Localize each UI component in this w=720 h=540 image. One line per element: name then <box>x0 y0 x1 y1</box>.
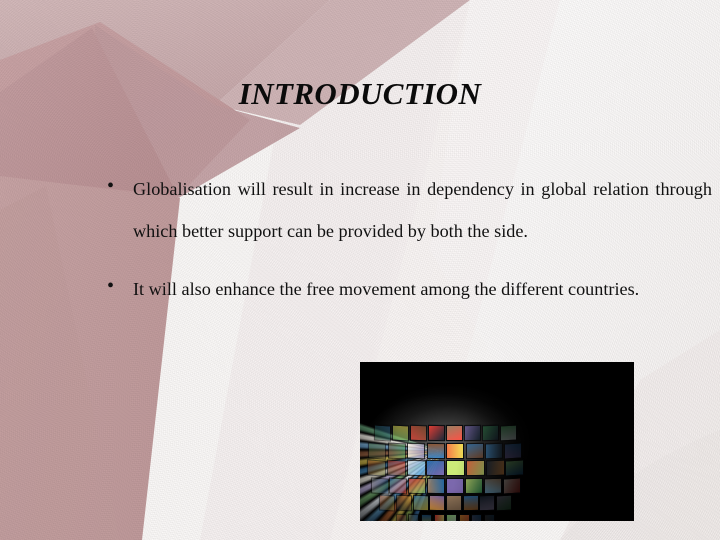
page-title: INTRODUCTION <box>0 76 720 112</box>
multimedia-globe-image <box>360 362 634 521</box>
list-item-text: Globalisation will result in increase in… <box>133 168 712 252</box>
bullet-list: • Globalisation will result in increase … <box>100 168 712 310</box>
list-item: • Globalisation will result in increase … <box>100 168 712 252</box>
image-vignette <box>360 362 634 521</box>
bullet-icon: • <box>107 168 114 204</box>
slide-canvas: INTRODUCTION • Globalisation will result… <box>0 0 720 540</box>
list-item: • It will also enhance the free movement… <box>100 268 712 310</box>
list-item-text: It will also enhance the free movement a… <box>133 268 712 310</box>
bullet-icon: • <box>107 268 114 304</box>
